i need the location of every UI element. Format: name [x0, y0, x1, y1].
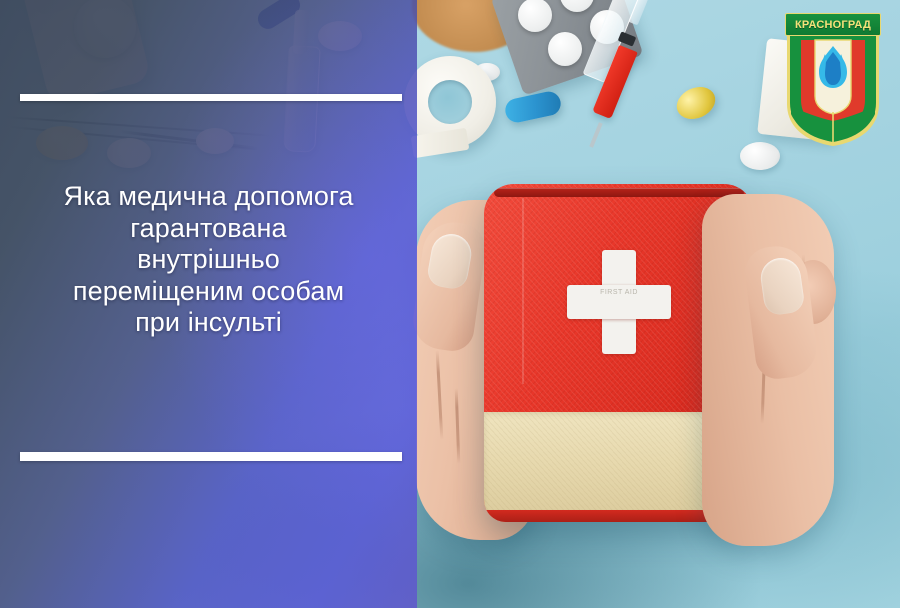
- headline-text: Яка медична допомога гарантована внутріш…: [8, 181, 409, 339]
- poster-canvas: FIRST AID Яка медична допомога гарантова…: [0, 0, 900, 608]
- coat-of-arms-banner: КРАСНОГРАД: [785, 13, 881, 36]
- headline-line-4: переміщеним особам: [8, 276, 409, 308]
- finger-crease: [455, 388, 461, 464]
- medical-tape-hole: [428, 80, 472, 124]
- cross-micro-label: FIRST AID: [571, 288, 667, 297]
- headline-line-2: гарантована: [8, 213, 409, 245]
- bottom-divider-rule: [20, 452, 402, 461]
- right-hand: [702, 194, 834, 546]
- headline-line-1: Яка медична допомога: [8, 181, 409, 213]
- headline-line-5: при інсульті: [8, 307, 409, 339]
- pouch-zipper: [494, 188, 744, 197]
- headline-line-3: внутрішньо: [8, 244, 409, 276]
- coat-of-arms-banner-label: КРАСНОГРАД: [795, 19, 871, 31]
- krasnohrad-coat-of-arms: КРАСНОГРАД: [781, 0, 885, 146]
- finger-crease: [436, 350, 444, 440]
- top-divider-rule: [20, 94, 402, 101]
- blister-pill: [548, 32, 582, 66]
- pouch-seam: [522, 198, 524, 384]
- hands-holding-kit: FIRST AID: [420, 176, 820, 556]
- tablet-pill: [740, 142, 780, 170]
